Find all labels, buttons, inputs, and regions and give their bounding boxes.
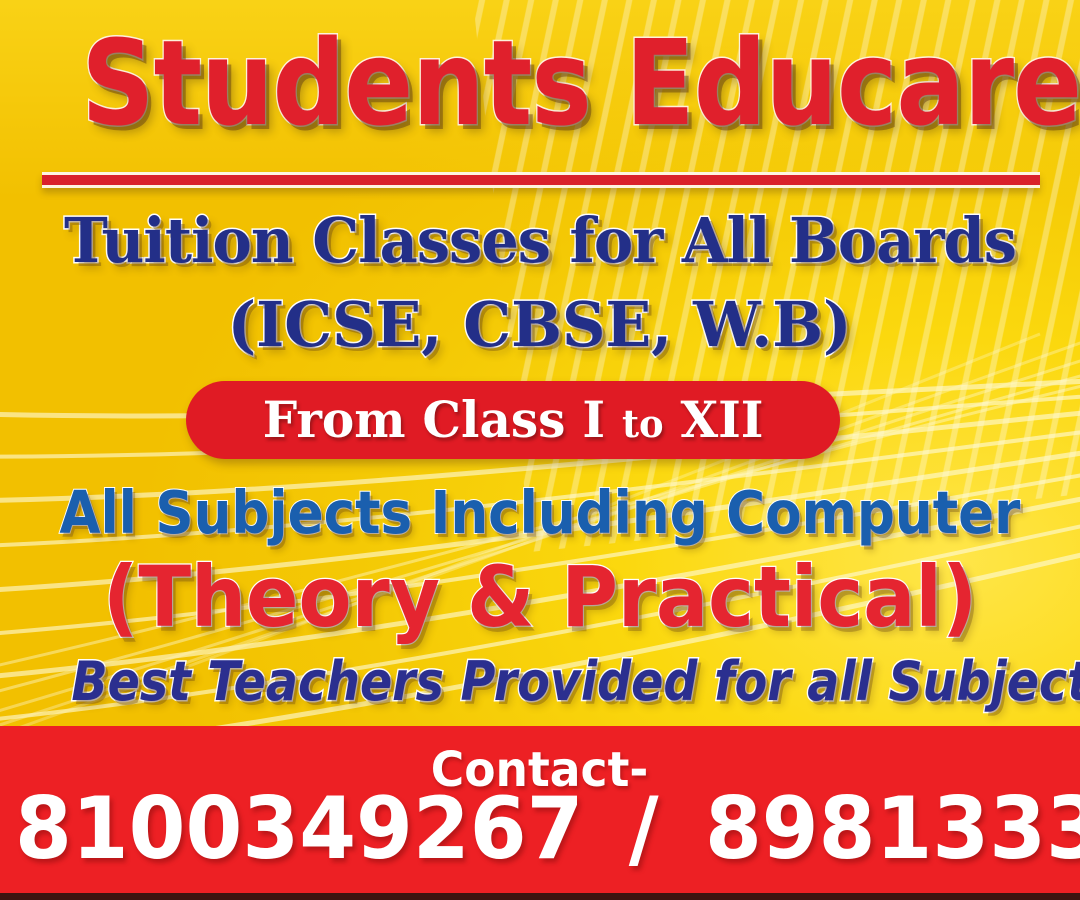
class-range-text: From Class I to XII — [263, 395, 764, 445]
class-range-pill: From Class I to XII — [186, 381, 840, 459]
phone-number-secondary[interactable]: 8981333442 — [705, 786, 1080, 872]
brand-title: Students Educare — [81, 24, 1080, 142]
brand-title-container: Students Educare — [0, 24, 1080, 142]
class-range-suffix: XII — [680, 390, 763, 449]
advertisement-poster: Students Educare Tuition Classes for All… — [0, 0, 1080, 900]
headline-boards-text: Tuition Classes for All Boards — [64, 204, 1016, 277]
teachers-line: Best Teachers Provided for all Subjects — [0, 650, 1080, 713]
class-range-connector: to — [622, 401, 664, 446]
teachers-text: Best Teachers Provided for all Subjects — [71, 650, 1080, 713]
title-divider-bar — [42, 172, 1040, 188]
theory-practical-line: (Theory & Practical) — [0, 548, 1080, 646]
boards-list-text: (ICSE, CBSE, W.B) — [228, 288, 852, 361]
subjects-line: All Subjects Including Computer — [0, 478, 1080, 547]
headline-boards-line: Tuition Classes for All Boards — [0, 204, 1080, 277]
phone-separator: / — [629, 786, 659, 872]
subjects-text: All Subjects Including Computer — [60, 478, 1021, 547]
theory-practical-text: (Theory & Practical) — [103, 548, 977, 646]
bottom-dark-strip — [0, 893, 1080, 900]
contact-phone-numbers[interactable]: 8100349267 / 8981333442 — [0, 786, 1080, 872]
class-range-prefix: From Class I — [263, 390, 605, 449]
boards-list-line: (ICSE, CBSE, W.B) — [0, 288, 1080, 361]
phone-number-primary[interactable]: 8100349267 — [15, 786, 583, 872]
